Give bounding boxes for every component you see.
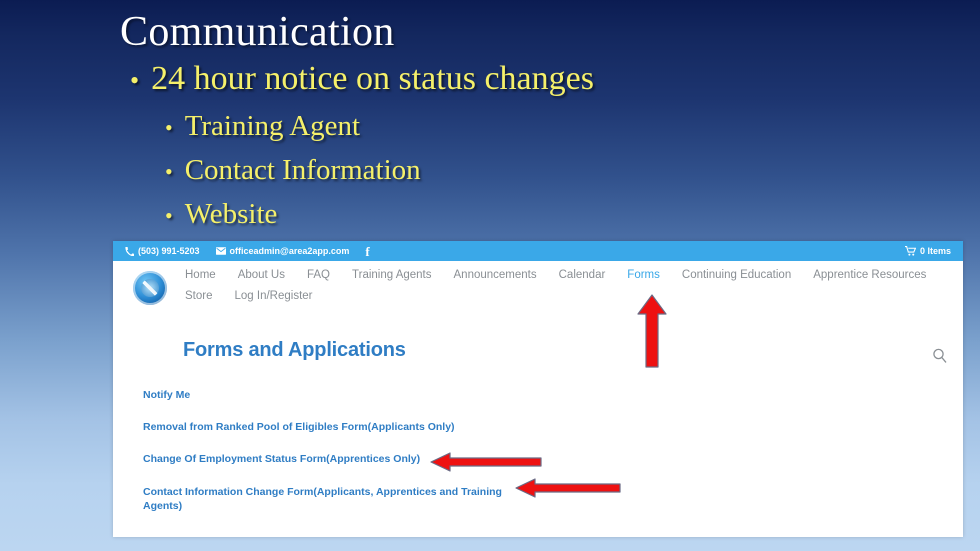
- form-link-removal-from-ranked-pool[interactable]: Removal from Ranked Pool of Eligibles Fo…: [143, 420, 543, 434]
- nav-item-home[interactable]: Home: [185, 269, 216, 281]
- phone-icon: [125, 247, 134, 256]
- nav-row: Home About Us FAQ Training Agents Announ…: [127, 269, 949, 311]
- bullet-marker-icon: •: [165, 117, 173, 139]
- envelope-icon: [216, 247, 226, 255]
- nav-item-training-agents[interactable]: Training Agents: [352, 269, 431, 281]
- arrow-up-to-forms-icon: [636, 294, 668, 368]
- page-heading: Forms and Applications: [183, 339, 949, 362]
- page-title: Communication: [120, 8, 395, 56]
- facebook-icon: f: [365, 245, 369, 258]
- nav-item-continuing-education[interactable]: Continuing Education: [682, 269, 791, 281]
- bullet-marker-icon: •: [130, 68, 139, 94]
- primary-nav: Home About Us FAQ Training Agents Announ…: [185, 269, 949, 311]
- form-link-notify-me[interactable]: Notify Me: [143, 388, 543, 402]
- arrow-left-to-change-of-employment-status-icon: [430, 452, 542, 472]
- site-top-bar: (503) 991-5203 officeadmin@area2app.com …: [113, 241, 963, 261]
- bullet-level2-label: Contact Information: [185, 154, 421, 187]
- nav-item-log-in-register[interactable]: Log In/Register: [235, 290, 313, 302]
- facebook-link[interactable]: f: [365, 245, 369, 258]
- nav-links: Home About Us FAQ Training Agents Announ…: [185, 269, 949, 290]
- email-address: officeadmin@area2app.com: [230, 246, 350, 256]
- nav-item-faq[interactable]: FAQ: [307, 269, 330, 281]
- bullet-level2-contact-information: • Contact Information: [165, 154, 421, 187]
- form-link-contact-information-change[interactable]: Contact Information Change Form(Applican…: [143, 485, 538, 513]
- nav-item-forms[interactable]: Forms: [627, 269, 660, 281]
- bullet-level1: • 24 hour notice on status changes: [130, 60, 594, 98]
- bullet-marker-icon: •: [165, 161, 173, 183]
- cart-status[interactable]: 0 Items: [905, 246, 951, 256]
- page-footer-space: [113, 523, 963, 537]
- nav-item-about-us[interactable]: About Us: [238, 269, 285, 281]
- bullet-level2-label: Training Agent: [185, 110, 360, 143]
- bullet-level2-label: Website: [185, 198, 278, 231]
- site-logo[interactable]: [133, 271, 167, 305]
- nav-item-apprentice-resources[interactable]: Apprentice Resources: [813, 269, 926, 281]
- phone-number: (503) 991-5203: [138, 246, 200, 256]
- email-contact[interactable]: officeadmin@area2app.com: [216, 246, 350, 256]
- site-header: Home About Us FAQ Training Agents Announ…: [113, 261, 963, 317]
- cart-item-count: 0 Items: [920, 246, 951, 256]
- nav-item-announcements[interactable]: Announcements: [454, 269, 537, 281]
- bullet-marker-icon: •: [165, 205, 173, 227]
- bullet-level2-website: • Website: [165, 198, 277, 231]
- shopping-cart-icon: [905, 246, 916, 256]
- bullet-level1-label: 24 hour notice on status changes: [151, 60, 594, 98]
- arrow-left-to-contact-information-change-icon: [515, 478, 621, 498]
- nav-item-store[interactable]: Store: [185, 290, 213, 302]
- nav-item-calendar[interactable]: Calendar: [559, 269, 606, 281]
- bullet-level2-training-agent: • Training Agent: [165, 110, 360, 143]
- phone-contact[interactable]: (503) 991-5203: [125, 246, 200, 256]
- nav-links-second-row: Store Log In/Register: [185, 290, 949, 311]
